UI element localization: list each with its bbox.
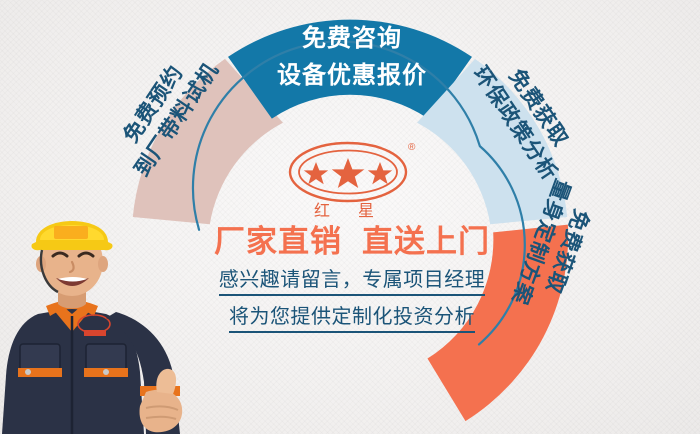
- subline-row-1: 感兴趣请留言，专属项目经理: [178, 268, 526, 296]
- center-content: ® 红星 厂家直销直送上门 感兴趣请留言，专属项目经理 将为您提供定制化投资分析: [178, 138, 526, 333]
- arc-segment-2-line-2: 设备优惠报价: [277, 57, 427, 94]
- subline-2: 将为您提供定制化投资分析: [229, 305, 475, 333]
- brand-logo: ® 红星: [178, 138, 526, 224]
- promo-banner: 免费预约 到厂带料试机 免费咨询 设备优惠报价 免费获取 环保政策分析 免费获取…: [0, 0, 700, 434]
- arc-segment-2-label: 免费咨询 设备优惠报价: [277, 20, 427, 94]
- red-star-logo-icon: ® 红星: [282, 138, 422, 222]
- brand-name-text: 红星: [314, 202, 402, 220]
- registered-mark: ®: [408, 142, 416, 153]
- subline-row-2: 将为您提供定制化投资分析: [178, 305, 526, 333]
- headline-left: 厂家直销: [214, 224, 342, 259]
- headline: 厂家直销直送上门: [178, 226, 526, 257]
- arc-segment-2-line-1: 免费咨询: [277, 20, 427, 57]
- worker-photo: [0, 196, 190, 434]
- subline-1: 感兴趣请留言，专属项目经理: [219, 268, 486, 296]
- headline-right: 直送上门: [362, 224, 490, 259]
